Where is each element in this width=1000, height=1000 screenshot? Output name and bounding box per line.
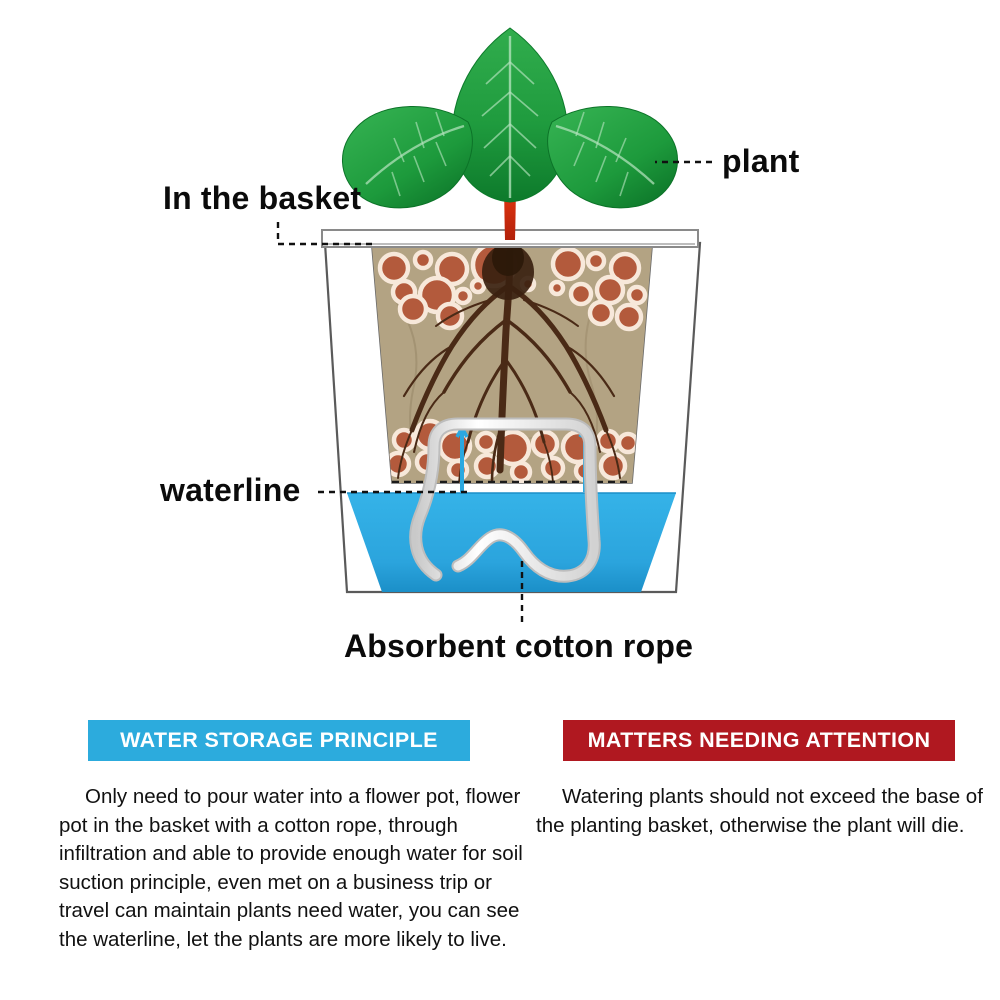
info-panels: WATER STORAGE PRINCIPLE Only need to pou… [0,690,1000,1000]
diagram-label-absorbent-cotton-rope: Absorbent cotton rope [344,628,693,665]
diagram-label-plant: plant [722,143,799,180]
panel-header-matters-needing-attention: MATTERS NEEDING ATTENTION [563,720,955,761]
panel-body-matters-needing-attention: Watering plants should not exceed the ba… [536,783,996,840]
diagram-label-in-the-basket: In the basket [163,180,361,217]
panel-body-water-storage-principle: Only need to pour water into a flower po… [59,783,527,954]
page-root: In the basket plant waterline Absorbent … [0,0,1000,1000]
plant-leaves [342,28,677,208]
leaf-right [548,106,678,207]
self-watering-pot-diagram: In the basket plant waterline Absorbent … [0,0,1000,690]
leaf-left [342,106,472,207]
panel-water-storage-principle: WATER STORAGE PRINCIPLE Only need to pou… [45,690,515,954]
diagram-label-waterline: waterline [160,472,301,509]
panel-header-water-storage-principle: WATER STORAGE PRINCIPLE [88,720,470,761]
leaf-center [452,28,567,202]
panel-matters-needing-attention: MATTERS NEEDING ATTENTION Watering plant… [520,690,990,840]
